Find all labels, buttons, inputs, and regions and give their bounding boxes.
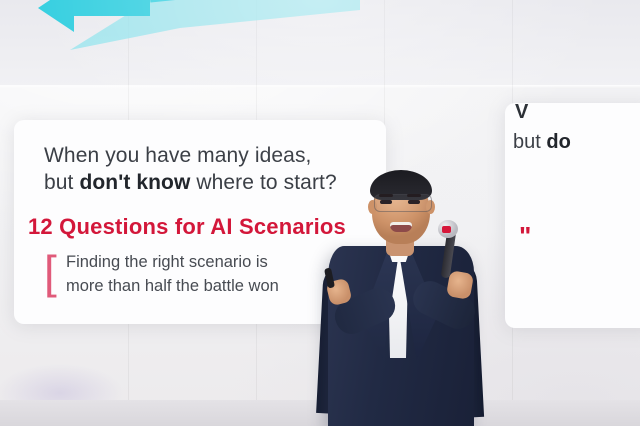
subtext-line-1: Finding the right scenario is bbox=[66, 250, 351, 274]
right-top-fragment: V bbox=[515, 101, 640, 124]
eye-right bbox=[408, 200, 420, 204]
eyebrow-right bbox=[407, 194, 421, 197]
arrow-svg bbox=[30, 0, 360, 62]
headline-suffix: where to start? bbox=[190, 171, 336, 194]
right-quote-fragment: " bbox=[519, 221, 531, 252]
slide-subtext: Finding the right scenario is more than … bbox=[66, 250, 351, 298]
teal-arrow-graphic bbox=[30, 0, 360, 62]
eye-left bbox=[380, 200, 392, 204]
microphone-logo bbox=[442, 226, 451, 233]
bracket-glyph: [ bbox=[44, 252, 57, 292]
right-line-bold: do bbox=[546, 131, 570, 153]
mouth bbox=[390, 222, 412, 232]
eyebrow-left bbox=[379, 194, 393, 197]
headline-prefix: but bbox=[44, 171, 79, 194]
screen-top-highlight bbox=[0, 85, 640, 88]
subtext-line-2: more than half the battle won bbox=[66, 274, 351, 298]
slide-card-right: V but do " bbox=[505, 103, 640, 328]
right-line-prefix: but bbox=[513, 131, 546, 153]
headline-line-1: When you have many ideas, bbox=[44, 142, 374, 169]
keynote-speaker bbox=[316, 168, 486, 426]
right-text-line: but do bbox=[513, 129, 640, 155]
screenshot-root: V but do " When you have many ideas, but… bbox=[0, 0, 640, 426]
headline-bold: don't know bbox=[79, 171, 190, 194]
